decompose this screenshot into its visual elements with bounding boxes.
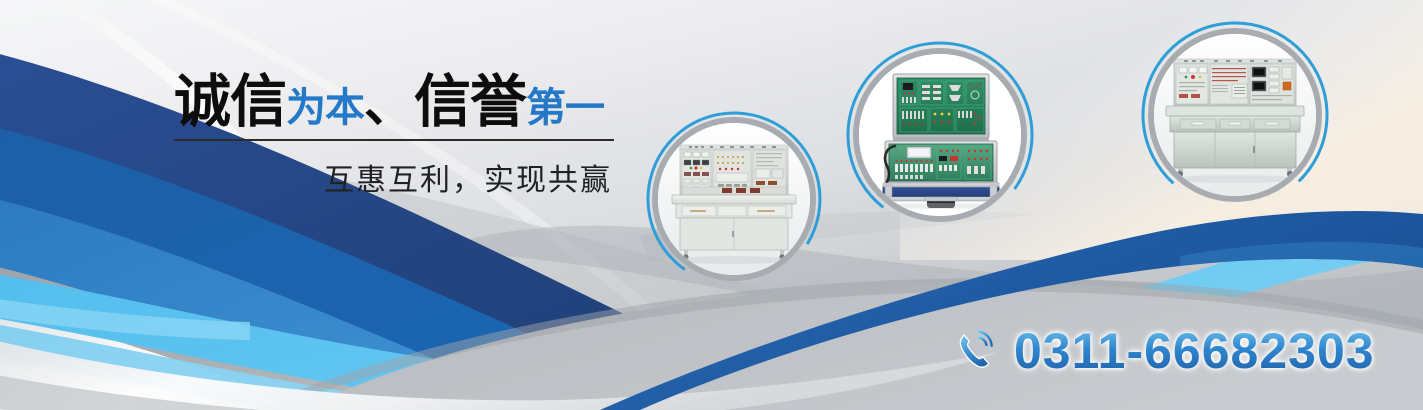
headline-part-1: 诚信 — [174, 70, 286, 134]
headline-punctuation: 、 — [364, 76, 414, 132]
phone-ringing-icon — [952, 327, 1000, 375]
headline-divider — [174, 139, 614, 141]
promotional-banner: 诚信为本、信誉第一 互惠互利，实现共赢 — [0, 0, 1423, 410]
headline-part-3: 信誉 — [414, 70, 526, 134]
product-photo-training-case — [859, 54, 1021, 216]
phone-number[interactable]: 0311-66682303 — [1014, 326, 1375, 376]
headline: 诚信为本、信誉第一 — [172, 74, 628, 137]
subtitle: 互惠互利，实现共赢 — [172, 155, 612, 199]
product-photo-workbench-right — [1154, 34, 1316, 196]
headline-block: 诚信为本、信誉第一 互惠互利，实现共赢 — [172, 74, 628, 199]
contact-block[interactable]: 0311-66682303 — [952, 326, 1375, 376]
product-circle-left[interactable] — [645, 110, 823, 288]
product-photo-workbench-left — [658, 123, 810, 275]
headline-part-4: 第一 — [526, 86, 604, 130]
product-circle-right[interactable] — [1140, 20, 1330, 210]
headline-part-2: 为本 — [286, 86, 364, 130]
product-circle-center[interactable] — [845, 40, 1035, 230]
